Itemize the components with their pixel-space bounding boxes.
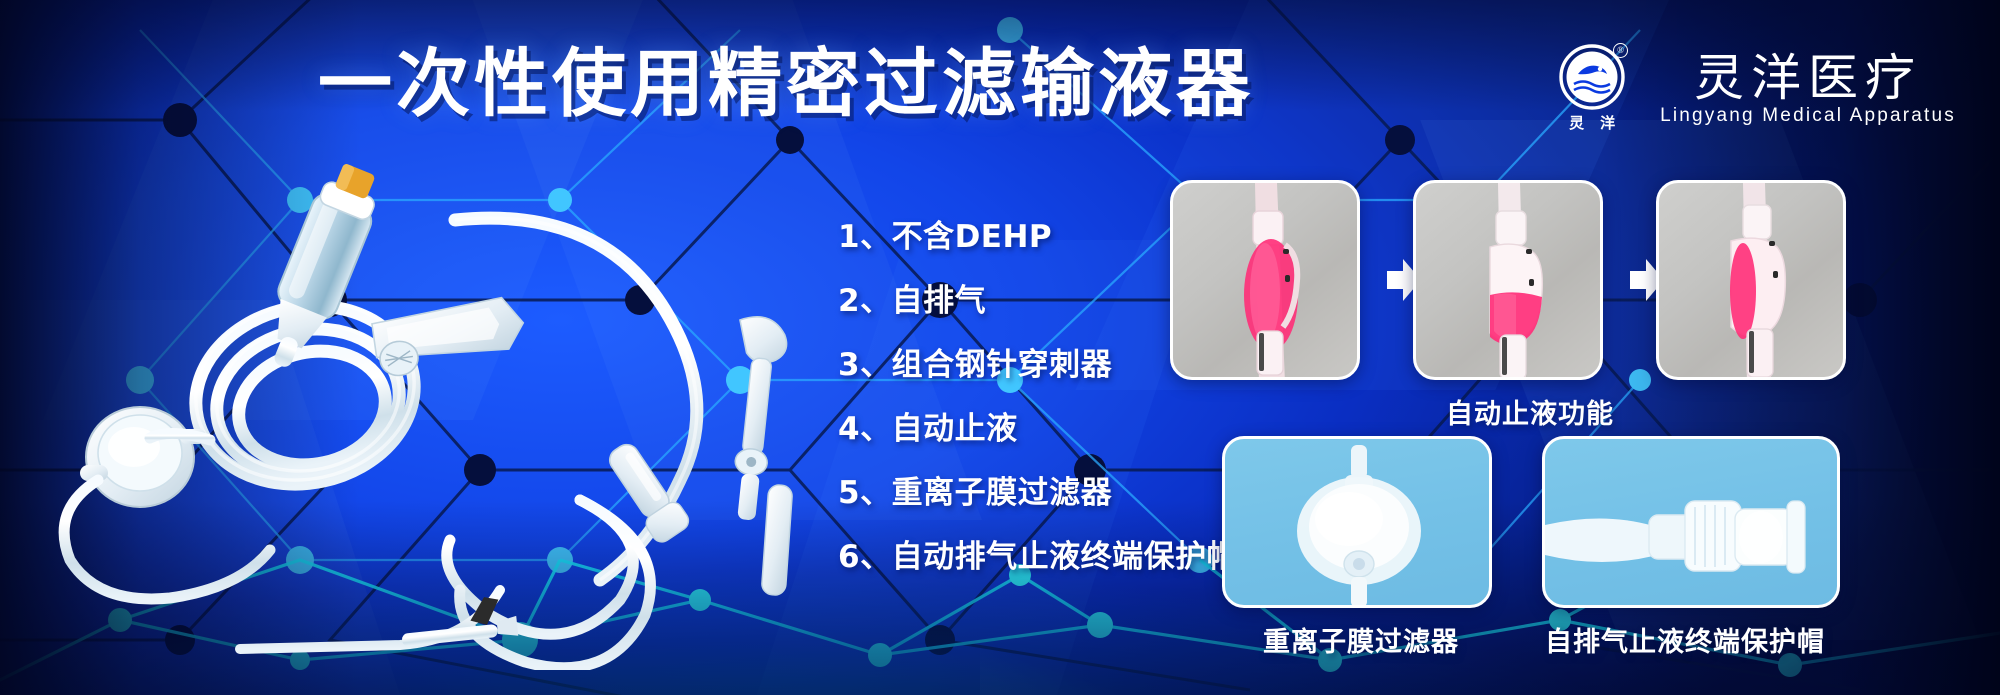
banner-stage: 一次性使用精密过滤输液器 ® 灵洋 灵洋医疗 Lingyang Medical … [0, 0, 2000, 695]
gallery-photo-end-cap[interactable] [1542, 436, 1840, 608]
gallery-caption-end-cap: 自排气止液终端保护帽 [1545, 620, 1825, 659]
brand-name-en: Lingyang Medical Apparatus [1660, 106, 1956, 125]
product-photo [40, 150, 820, 670]
feature-item: 6、自动排气止液终端保护帽 [838, 542, 1238, 573]
gallery-photo-drip-chamber-stopped[interactable] [1656, 180, 1846, 380]
brand-text: 灵洋医疗 Lingyang Medical Apparatus [1660, 53, 1956, 125]
logo-mark: ® 灵洋 [1542, 44, 1642, 133]
logo-sub-label: 灵洋 [1553, 112, 1631, 133]
gallery-photo-drip-chamber-full[interactable] [1170, 180, 1360, 380]
feature-item: 4、自动止液 [838, 414, 1238, 445]
page-title: 一次性使用精密过滤输液器 [318, 47, 1254, 121]
gallery-caption-filter: 重离子膜过滤器 [1263, 620, 1459, 659]
gallery-caption-auto-stop: 自动止液功能 [1446, 392, 1614, 431]
lingyang-circle-logo-icon: ® [1559, 44, 1625, 110]
registered-mark-icon: ® [1613, 43, 1628, 58]
brand-logo: ® 灵洋 灵洋医疗 Lingyang Medical Apparatus [1542, 44, 1956, 133]
brand-name-cn: 灵洋医疗 [1694, 53, 1922, 103]
feature-item: 5、重离子膜过滤器 [838, 478, 1238, 509]
gallery-photo-drip-chamber-half[interactable] [1413, 180, 1603, 380]
gallery-photo-heavy-ion-filter[interactable] [1222, 436, 1492, 608]
